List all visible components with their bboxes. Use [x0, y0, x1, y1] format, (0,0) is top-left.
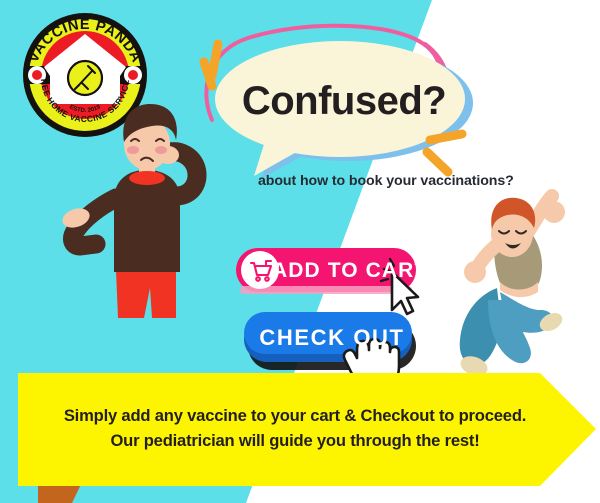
page-headline: Confused?	[236, 72, 452, 130]
banner-line-1: Simply add any vaccine to your cart & Ch…	[64, 406, 526, 427]
add-to-cart-label[interactable]: ADD TO CART	[272, 257, 412, 285]
promo-poster: VACCINE PANDA FREE HOME VACCINE SERVICES…	[0, 0, 600, 503]
banner-message: Simply add any vaccine to your cart & Ch…	[22, 396, 568, 462]
page-subheadline: about how to book your vaccinations?	[258, 170, 558, 192]
check-out-label[interactable]: CHECK OUT	[258, 323, 406, 353]
banner-line-2: Our pediatrician will guide you through …	[110, 431, 479, 452]
